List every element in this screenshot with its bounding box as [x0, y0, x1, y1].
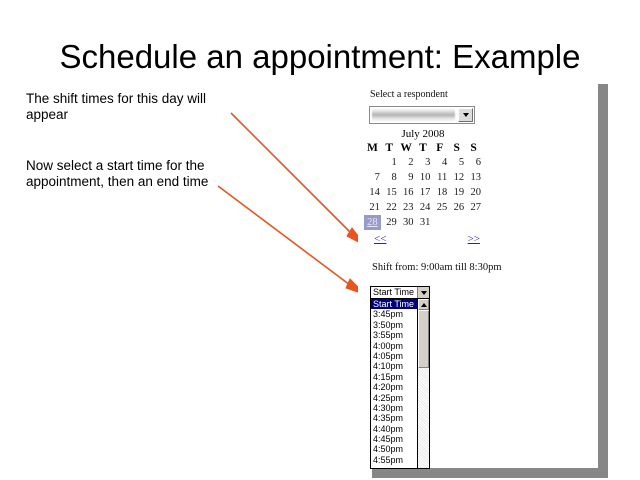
- calendar-day[interactable]: 21: [364, 200, 381, 215]
- list-item[interactable]: 4:15pm: [371, 372, 417, 382]
- calendar-day[interactable]: 13: [465, 170, 482, 185]
- shift-hours-text: Shift from: 9:00am till 8:30pm: [372, 262, 502, 273]
- calendar-week-row: 14 15 16 17 18 19 20: [364, 185, 482, 200]
- calendar-day[interactable]: 26: [448, 200, 465, 215]
- calendar-day[interactable]: [448, 215, 465, 230]
- slide-canvas: Schedule an appointment: Example The shi…: [0, 0, 640, 480]
- calendar-day[interactable]: 17: [415, 185, 432, 200]
- calendar-day[interactable]: 10: [415, 170, 432, 185]
- calendar-day[interactable]: [465, 215, 482, 230]
- calendar-day[interactable]: 19: [448, 185, 465, 200]
- list-item[interactable]: 4:45pm: [371, 434, 417, 444]
- panel-shadow-bottom: [372, 468, 608, 478]
- calendar-weekday-row: M T W T F S S: [364, 142, 482, 155]
- calendar-day[interactable]: [364, 155, 381, 170]
- calendar-day[interactable]: 16: [398, 185, 415, 200]
- callout-note-select-time: Now select a start time for the appointm…: [26, 158, 241, 190]
- start-time-select[interactable]: Start Time: [370, 286, 430, 299]
- chevron-down-icon[interactable]: [458, 108, 473, 122]
- calendar-week-row: 7 8 9 10 11 12 13: [364, 170, 482, 185]
- calendar-weekday: S: [465, 142, 482, 155]
- calendar-day[interactable]: 30: [398, 215, 415, 230]
- respondent-label: Select a respondent: [370, 89, 448, 100]
- calendar-weekday: W: [398, 142, 415, 155]
- list-item[interactable]: 3:50pm: [371, 320, 417, 330]
- calendar-day[interactable]: 5: [448, 155, 465, 170]
- calendar-next-month-link[interactable]: >>: [468, 233, 480, 245]
- calendar-day[interactable]: 15: [381, 185, 398, 200]
- calendar-week-row: 1 2 3 4 5 6: [364, 155, 482, 170]
- calendar-weekday: M: [364, 142, 381, 155]
- calendar-day[interactable]: 22: [381, 200, 398, 215]
- calendar-week-row: 28 29 30 31: [364, 215, 482, 230]
- page-title: Schedule an appointment: Example: [0, 38, 640, 76]
- list-item[interactable]: 4:50pm: [371, 444, 417, 454]
- calendar-month-label: July 2008: [362, 128, 484, 142]
- calendar-week-row: 21 22 23 24 25 26 27: [364, 200, 482, 215]
- list-item[interactable]: Start Time: [371, 299, 417, 309]
- list-item[interactable]: 3:45pm: [371, 309, 417, 319]
- list-item[interactable]: 4:25pm: [371, 393, 417, 403]
- arrow-to-start-time: [218, 186, 366, 295]
- calendar-day[interactable]: 2: [398, 155, 415, 170]
- calendar-day[interactable]: 11: [431, 170, 448, 185]
- calendar-weekday: T: [415, 142, 432, 155]
- list-item[interactable]: 4:30pm: [371, 403, 417, 413]
- calendar-grid: M T W T F S S 1 2 3 4 5 6: [364, 142, 482, 230]
- list-item[interactable]: 4:00pm: [371, 341, 417, 351]
- panel-shadow-right: [598, 84, 608, 478]
- calendar-day[interactable]: 25: [431, 200, 448, 215]
- respondent-selected-value: [372, 109, 455, 121]
- calendar-day[interactable]: 24: [415, 200, 432, 215]
- start-time-option-list[interactable]: Start Time 3:45pm 3:50pm 3:55pm 4:00pm 4…: [370, 299, 430, 469]
- calendar-weekday: F: [431, 142, 448, 155]
- scrollbar-track[interactable]: [418, 368, 429, 468]
- calendar-day[interactable]: 20: [465, 185, 482, 200]
- list-item[interactable]: 4:55pm: [371, 455, 417, 465]
- calendar-day[interactable]: 8: [381, 170, 398, 185]
- calendar-day[interactable]: 23: [398, 200, 415, 215]
- calendar-day[interactable]: 18: [431, 185, 448, 200]
- calendar-prev-month-link[interactable]: <<: [374, 233, 386, 245]
- list-item[interactable]: 4:35pm: [371, 413, 417, 423]
- scrollbar-thumb[interactable]: [418, 310, 429, 368]
- calendar-widget: July 2008 M T W T F S S 1 2 3: [362, 128, 484, 247]
- respondent-select[interactable]: [369, 106, 475, 124]
- list-scrollbar[interactable]: [417, 299, 429, 468]
- calendar-day-selected[interactable]: 28: [364, 215, 381, 230]
- start-time-options[interactable]: Start Time 3:45pm 3:50pm 3:55pm 4:00pm 4…: [371, 299, 417, 468]
- calendar-day[interactable]: 9: [398, 170, 415, 185]
- calendar-day[interactable]: 1: [381, 155, 398, 170]
- calendar-weekday: T: [381, 142, 398, 155]
- calendar-weekday: S: [448, 142, 465, 155]
- calendar-day[interactable]: 6: [465, 155, 482, 170]
- list-item[interactable]: 4:20pm: [371, 382, 417, 392]
- calendar-day[interactable]: 27: [465, 200, 482, 215]
- calendar-day[interactable]: 7: [364, 170, 381, 185]
- calendar-body: 1 2 3 4 5 6 7 8 9 10 11 12 13 14: [364, 155, 482, 230]
- calendar-day[interactable]: 4: [431, 155, 448, 170]
- calendar-day[interactable]: 14: [364, 185, 381, 200]
- list-item[interactable]: 4:05pm: [371, 351, 417, 361]
- list-item[interactable]: 3:55pm: [371, 330, 417, 340]
- calendar-day[interactable]: 29: [381, 215, 398, 230]
- chevron-down-icon[interactable]: [417, 287, 429, 298]
- calendar-day[interactable]: 3: [415, 155, 432, 170]
- list-item[interactable]: 4:40pm: [371, 424, 417, 434]
- scroll-up-arrow-icon[interactable]: [418, 299, 429, 310]
- callout-note-shift-times: The shift times for this day will appear: [26, 91, 241, 123]
- list-item[interactable]: 4:10pm: [371, 361, 417, 371]
- start-time-selected-value: Start Time: [371, 287, 417, 298]
- calendar-day[interactable]: 31: [415, 215, 432, 230]
- arrow-to-calendar-nav: [231, 113, 366, 246]
- calendar-day[interactable]: 12: [448, 170, 465, 185]
- calendar-day[interactable]: [431, 215, 448, 230]
- calendar-nav: << >>: [364, 233, 482, 247]
